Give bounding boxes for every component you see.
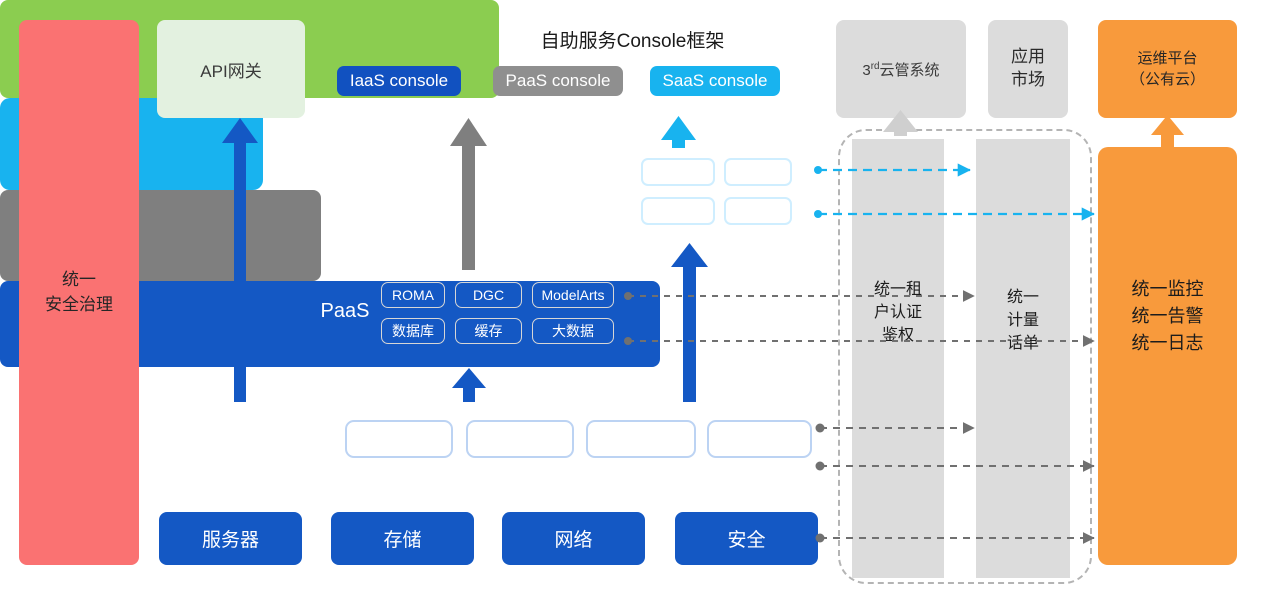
security-governance-line1: 统一: [45, 268, 113, 293]
paas-item-database[interactable]: 数据库: [381, 318, 445, 344]
infrastructure-item-storage[interactable]: 存储: [331, 512, 474, 565]
ops-platform-line2: （公有云）: [1130, 69, 1205, 90]
saas-console-chip[interactable]: SaaS console: [650, 66, 780, 96]
app-market-label: 应用 市场: [1011, 46, 1045, 92]
security-governance-label: 统一 安全治理: [45, 268, 113, 317]
unified-monitoring-line1: 统一监控: [1098, 276, 1237, 303]
arrow-saas-to-console: [661, 116, 696, 148]
unified-monitoring-label: 统一监控 统一告警 统一日志: [1098, 276, 1237, 357]
unified-metering-column[interactable]: [976, 139, 1070, 578]
third-party-cloud-management-box[interactable]: 3rd云管系统: [836, 20, 966, 118]
app-market-line1: 应用: [1011, 46, 1045, 69]
unified-metering-line2: 计量: [976, 309, 1070, 332]
infrastructure-item-security[interactable]: 安全: [675, 512, 818, 565]
unified-monitoring-line3: 统一日志: [1098, 330, 1237, 357]
ops-platform-label: 运维平台 （公有云）: [1130, 48, 1205, 90]
unified-monitoring-line2: 统一告警: [1098, 303, 1237, 330]
infrastructure-server-label: 服务器: [202, 525, 259, 552]
unified-metering-line1: 统一: [976, 286, 1070, 309]
paas-console-chip[interactable]: PaaS console: [493, 66, 623, 96]
app-market-box[interactable]: 应用 市场: [988, 20, 1068, 118]
self-service-console-title: 自助服务Console框架: [0, 26, 1265, 53]
infrastructure-network-label: 网络: [554, 525, 592, 552]
iaas-item-cce[interactable]: CCE: [707, 420, 812, 458]
arrow-iaas-to-paas: [452, 368, 486, 402]
arrow-iaas-to-saas: [671, 243, 708, 402]
paas-item-modelarts[interactable]: ModelArts: [532, 282, 614, 308]
app-market-line2: 市场: [1011, 69, 1045, 92]
infrastructure-item-server[interactable]: 服务器: [159, 512, 302, 565]
unified-metering-line3: 话单: [976, 332, 1070, 355]
architecture-diagram: 统一 安全治理 API网关 自助服务Console框架 IaaS console…: [0, 0, 1265, 605]
third-party-prefix: 3: [862, 62, 870, 79]
paas-item-dgc[interactable]: DGC: [455, 282, 522, 308]
third-party-superscript: rd: [871, 61, 880, 72]
saas-item-video-cloud[interactable]: 视频云: [641, 197, 715, 225]
unified-auth-line1: 统一租: [852, 278, 944, 301]
ops-platform-line1: 运维平台: [1130, 48, 1205, 69]
saas-layer-label: SaaS: [563, 176, 633, 198]
paas-item-bigdata[interactable]: 大数据: [532, 318, 614, 344]
api-gateway-label: API网关: [200, 57, 261, 82]
iaas-layer-label: 统一基础设施服务: [175, 427, 335, 454]
ops-platform-box[interactable]: 运维平台 （公有云）: [1098, 20, 1237, 118]
iaas-item-storage[interactable]: Storage: [466, 420, 574, 458]
saas-item-desktop-cloud[interactable]: 桌面云: [724, 197, 792, 225]
unified-auth-line3: 鉴权: [852, 324, 944, 347]
paas-layer-label: PaaS: [312, 300, 378, 323]
infrastructure-security-label: 安全: [727, 525, 765, 552]
security-governance-panel[interactable]: 统一 安全治理: [19, 20, 139, 565]
infrastructure-storage-label: 存储: [383, 525, 421, 552]
paas-item-cache[interactable]: 缓存: [455, 318, 522, 344]
arrow-ops-column-to-ops-platform: [1151, 115, 1184, 148]
third-party-suffix: 云管系统: [880, 62, 940, 79]
unified-auth-label: 统一租 户认证 鉴权: [852, 278, 944, 348]
saas-item-blockchain[interactable]: 区块链: [641, 158, 715, 186]
security-governance-line2: 安全治理: [45, 293, 113, 318]
unified-metering-label: 统一 计量 话单: [976, 286, 1070, 356]
unified-auth-column[interactable]: [852, 139, 944, 578]
saas-item-iot[interactable]: IoT: [724, 158, 792, 186]
paas-item-roma[interactable]: ROMA: [381, 282, 445, 308]
iaas-item-network[interactable]: Network: [586, 420, 696, 458]
iaas-item-compute[interactable]: Compute: [345, 420, 453, 458]
unified-auth-line2: 户认证: [852, 301, 944, 324]
third-party-cloud-management-label: 3rd云管系统: [862, 59, 939, 80]
arrow-paas-to-console: [450, 118, 487, 270]
iaas-console-chip[interactable]: IaaS console: [337, 66, 461, 96]
infrastructure-item-network[interactable]: 网络: [502, 512, 645, 565]
